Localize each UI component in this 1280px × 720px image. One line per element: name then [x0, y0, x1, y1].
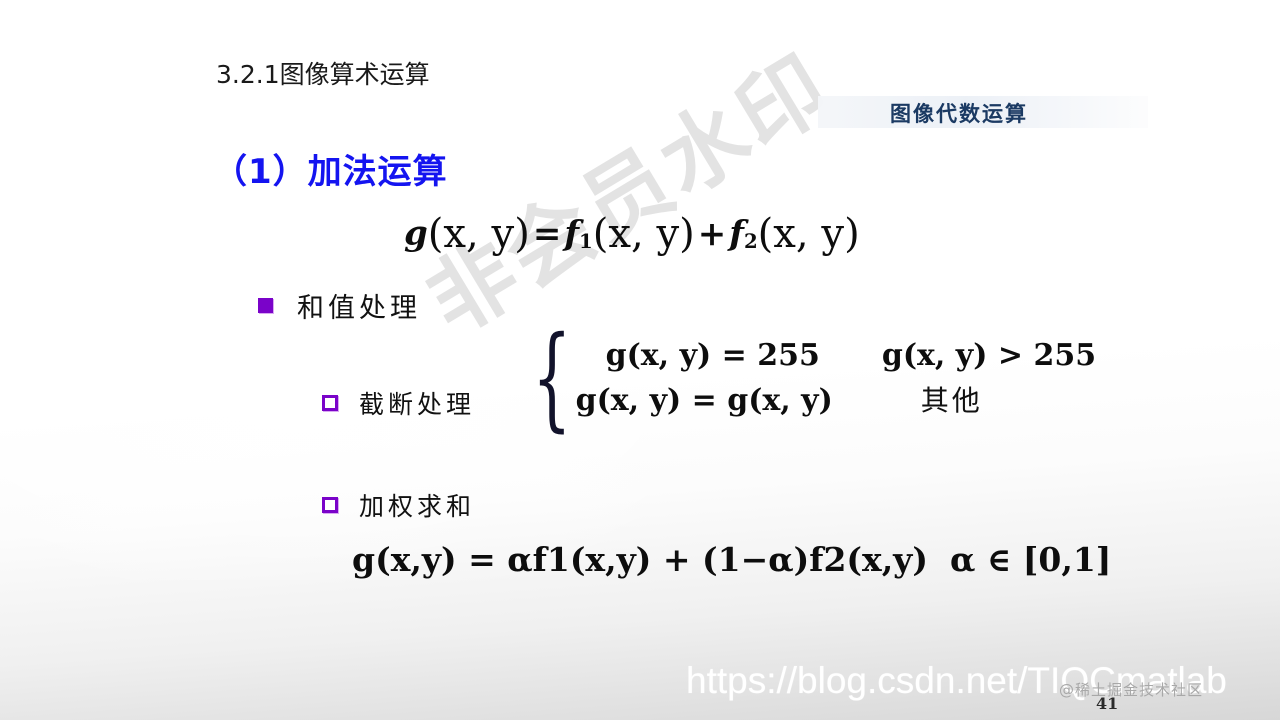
bullet-sum-processing: 和值处理	[258, 286, 421, 325]
bullet-weighted-sum: 加权求和	[322, 487, 475, 523]
formula-main-lhs-symbol: g	[404, 214, 428, 254]
piecewise-rows: g(x, y) = 255 g(x, y) > 255 g(x, y) = g(…	[576, 338, 1096, 419]
hollow-square-bullet-icon	[322, 497, 338, 513]
community-watermark: @稀土掘金技术社区	[1059, 679, 1203, 700]
formula-main-lhs-args: (x, y)	[428, 211, 530, 257]
piecewise-row-1-expression: g(x, y) = g(x, y)	[576, 383, 833, 418]
bullet-sum-processing-label: 和值处理	[297, 286, 421, 325]
formula-main-term1-symbol: f	[564, 214, 579, 254]
diagonal-watermark: 非会员水印	[400, 18, 850, 357]
slide-heading: （1）加法运算	[213, 144, 448, 193]
section-title: 3.2.1图像算术运算	[216, 55, 430, 91]
slide-canvas: 非会员水印 图像代数运算 3.2.1图像算术运算 （1）加法运算 g(x, y)…	[0, 0, 1280, 720]
formula-main-term1-args: (x, y)	[593, 211, 695, 257]
formula-main-term1-subscript: 1	[579, 229, 593, 253]
formula-weighted-expression: g(x,y) = αf1(x,y) + (1−α)f2(x,y)	[352, 540, 928, 579]
formula-weighted-range: α ∈ [0,1]	[950, 540, 1111, 579]
piecewise-row-0-expression: g(x, y) = 255	[576, 338, 820, 373]
bullet-truncate-label: 截断处理	[359, 385, 475, 421]
left-brace-icon: {	[532, 330, 571, 426]
piecewise-row: g(x, y) = g(x, y) 其他	[576, 379, 1096, 419]
url-watermark: https://blog.csdn.net/TIQCmatlab	[686, 660, 1227, 702]
formula-main-plus: +	[695, 214, 730, 254]
formula-weighted-sum: g(x,y) = αf1(x,y) + (1−α)f2(x,y)α ∈ [0,1…	[352, 540, 1111, 579]
formula-addition: g(x, y)=f1(x, y)+f2(x, y)	[404, 211, 860, 257]
filled-square-bullet-icon	[258, 298, 273, 313]
formula-main-term2-symbol: f	[729, 214, 744, 254]
bullet-truncate-processing: 截断处理	[322, 385, 475, 421]
piecewise-row-1-condition: 其他	[921, 379, 983, 419]
hollow-square-bullet-icon	[322, 395, 338, 411]
formula-main-term2-subscript: 2	[744, 229, 758, 253]
piecewise-row: g(x, y) = 255 g(x, y) > 255	[576, 338, 1096, 373]
piecewise-row-0-condition: g(x, y) > 255	[882, 338, 1096, 373]
formula-main-equals: =	[530, 214, 565, 254]
piecewise-definition: { g(x, y) = 255 g(x, y) > 255 g(x, y) = …	[520, 335, 1096, 421]
page-number: 41	[1096, 694, 1118, 713]
formula-main-term2-args: (x, y)	[758, 211, 860, 257]
header-badge-title: 图像代数运算	[890, 98, 1028, 128]
bullet-weighted-sum-label: 加权求和	[359, 487, 475, 523]
